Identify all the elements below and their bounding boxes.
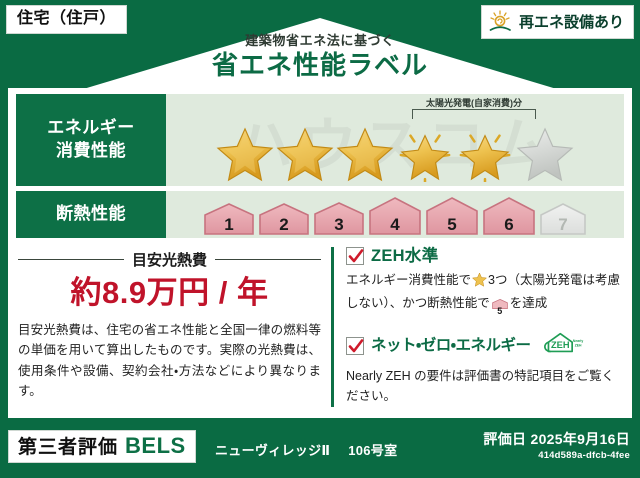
zeh-netzero-heading: ネット・ゼロ・エネルギー ZEH Nearly ZEH [346, 330, 622, 361]
svg-text:ZEH: ZEH [574, 343, 581, 347]
insulation-level-scale: 1 2 3 [166, 196, 624, 236]
house-level-number: 7 [539, 216, 587, 233]
energy-label-line2: 消費性能 [47, 140, 135, 163]
house-icon-level-6: 6 [482, 196, 536, 236]
property-name: ニューヴィレッジⅡ [215, 443, 330, 458]
zeh-netzero-checkbox[interactable] [346, 337, 364, 355]
zeh-standard-description: エネルギー消費性能で3つ（太陽光発電は考慮しない）、かつ断熱性能で5を達成 [346, 270, 622, 317]
solar-bracket-line [412, 109, 536, 119]
zeh-desc-part1: エネルギー消費性能で [346, 273, 471, 287]
lower-section: 目安光熱費 約8.9万円 / 年 目安光熱費は、住宅の省エネ性能と全国一律の燃料… [18, 247, 622, 407]
zeh-netzero-title: ネット・ゼロ・エネルギー [371, 338, 531, 354]
bels-jp-label: 第三者評価 [18, 438, 118, 457]
star-icon-empty [516, 126, 574, 182]
energy-star-rating [166, 126, 624, 182]
star-icon-filled [276, 126, 334, 182]
solar-bracket: 太陽光発電(自家消費)分 [412, 98, 536, 118]
utility-cost-note: 目安光熱費は、住宅の省エネ性能と全国一律の燃料等の単価を用いて算出したものです。… [18, 320, 321, 401]
check-icon [348, 338, 364, 355]
title-block: 建築物省エネ法に基づく 省エネ性能ラベル [0, 34, 640, 80]
energy-rating-field: ハウスコム 太陽光発電(自家消費)分 [166, 94, 624, 186]
label-footer: 第三者評価 BELS ニューヴィレッジⅡ 106号室 評価日 2025年9月16… [0, 422, 640, 478]
zeh-section-spacer [346, 321, 622, 330]
renewable-equipment-badge: 再エネ設備あり [481, 5, 634, 39]
utility-cost-heading-text: 目安光熱費 [132, 249, 207, 270]
dwelling-type-badge: 住宅（住戸） [6, 5, 127, 34]
zeh-standard-block: ZEH水準 エネルギー消費性能で3つ（太陽光発電は考慮しない）、かつ断熱性能で5… [346, 247, 622, 317]
star-icon-solar [456, 126, 514, 182]
evaluation-info: 評価日 2025年9月16日 414d589a-dfcb-4fee [483, 431, 630, 461]
zeh-badge-icon: ZEH Nearly ZEH [538, 330, 584, 361]
page-title: 省エネ性能ラベル [0, 51, 640, 80]
house-icon-inline: 5 [492, 297, 508, 317]
zeh-desc-star-count: 3つ（太陽光発電 [488, 273, 582, 287]
utility-cost-heading: 目安光熱費 [18, 249, 321, 270]
zeh-standard-heading: ZEH水準 [346, 247, 622, 265]
bels-certification-badge: 第三者評価 BELS [8, 430, 196, 463]
house-icon-level-5: 5 [425, 196, 479, 236]
inline-house-level: 5 [492, 307, 508, 316]
energy-performance-label: 住宅（住戸） 再エネ設備あり 建築物省 [0, 0, 640, 478]
house-level-number: 5 [425, 216, 479, 233]
check-icon [348, 248, 364, 265]
star-icon-solar [396, 126, 454, 182]
energy-performance-row: エネルギー 消費性能 ハウスコム 太陽光発電(自家消費)分 [16, 94, 624, 186]
label-body: エネルギー 消費性能 ハウスコム 太陽光発電(自家消費)分 [8, 88, 632, 418]
insulation-rating-field: 1 2 3 [166, 191, 624, 238]
zeh-netzero-block: ネット・ゼロ・エネルギー ZEH Nearly ZEH Nearly ZEH の… [346, 330, 622, 406]
house-icon-level-4: 4 [368, 196, 422, 236]
svg-text:ZEH: ZEH [551, 340, 570, 350]
house-icon-level-2: 2 [258, 202, 310, 236]
zeh-column: ZEH水準 エネルギー消費性能で3つ（太陽光発電は考慮しない）、かつ断熱性能で5… [334, 247, 622, 407]
house-level-number: 1 [203, 216, 255, 233]
utility-cost-value: 約8.9万円 / 年 [18, 276, 321, 310]
label-header: 住宅（住戸） 再エネ設備あり 建築物省 [0, 0, 640, 96]
insulation-performance-row: 断熱性能 1 [16, 191, 624, 238]
room-number: 106号室 [348, 443, 397, 458]
utility-cost-column: 目安光熱費 約8.9万円 / 年 目安光熱費は、住宅の省エネ性能と全国一律の燃料… [18, 247, 334, 407]
sun-icon [488, 10, 514, 34]
heading-rule-left [18, 259, 124, 260]
house-icon-level-1: 1 [203, 202, 255, 236]
zeh-netzero-description: Nearly ZEH の要件は評価書の特記項目をご覧ください。 [346, 366, 622, 406]
star-icon-filled [336, 126, 394, 182]
insulation-performance-label: 断熱性能 [16, 191, 166, 238]
house-icon-level-7: 7 [539, 202, 587, 236]
house-level-number: 6 [482, 216, 536, 233]
house-icon-level-3: 3 [313, 201, 365, 236]
energy-label-line1: エネルギー [47, 117, 135, 140]
property-info: ニューヴィレッジⅡ 106号室 [215, 440, 397, 459]
zeh-desc-part3: を達成 [510, 296, 548, 310]
bels-en-label: BELS [125, 435, 186, 457]
zeh-standard-checkbox[interactable] [346, 247, 364, 265]
evaluation-id: 414d589a-dfcb-4fee [483, 450, 630, 461]
star-icon-inline [472, 276, 487, 290]
renewable-badge-label: 再エネ設備あり [519, 15, 624, 30]
heading-rule-right [215, 259, 321, 260]
evaluation-date: 評価日 2025年9月16日 [483, 431, 630, 448]
house-level-number: 3 [313, 216, 365, 233]
star-icon-filled [216, 126, 274, 182]
zeh-standard-title: ZEH水準 [371, 248, 439, 265]
house-level-number: 2 [258, 216, 310, 233]
energy-performance-label: エネルギー 消費性能 [16, 94, 166, 186]
solar-bracket-label: 太陽光発電(自家消費)分 [398, 96, 550, 109]
house-level-number: 4 [368, 216, 422, 233]
